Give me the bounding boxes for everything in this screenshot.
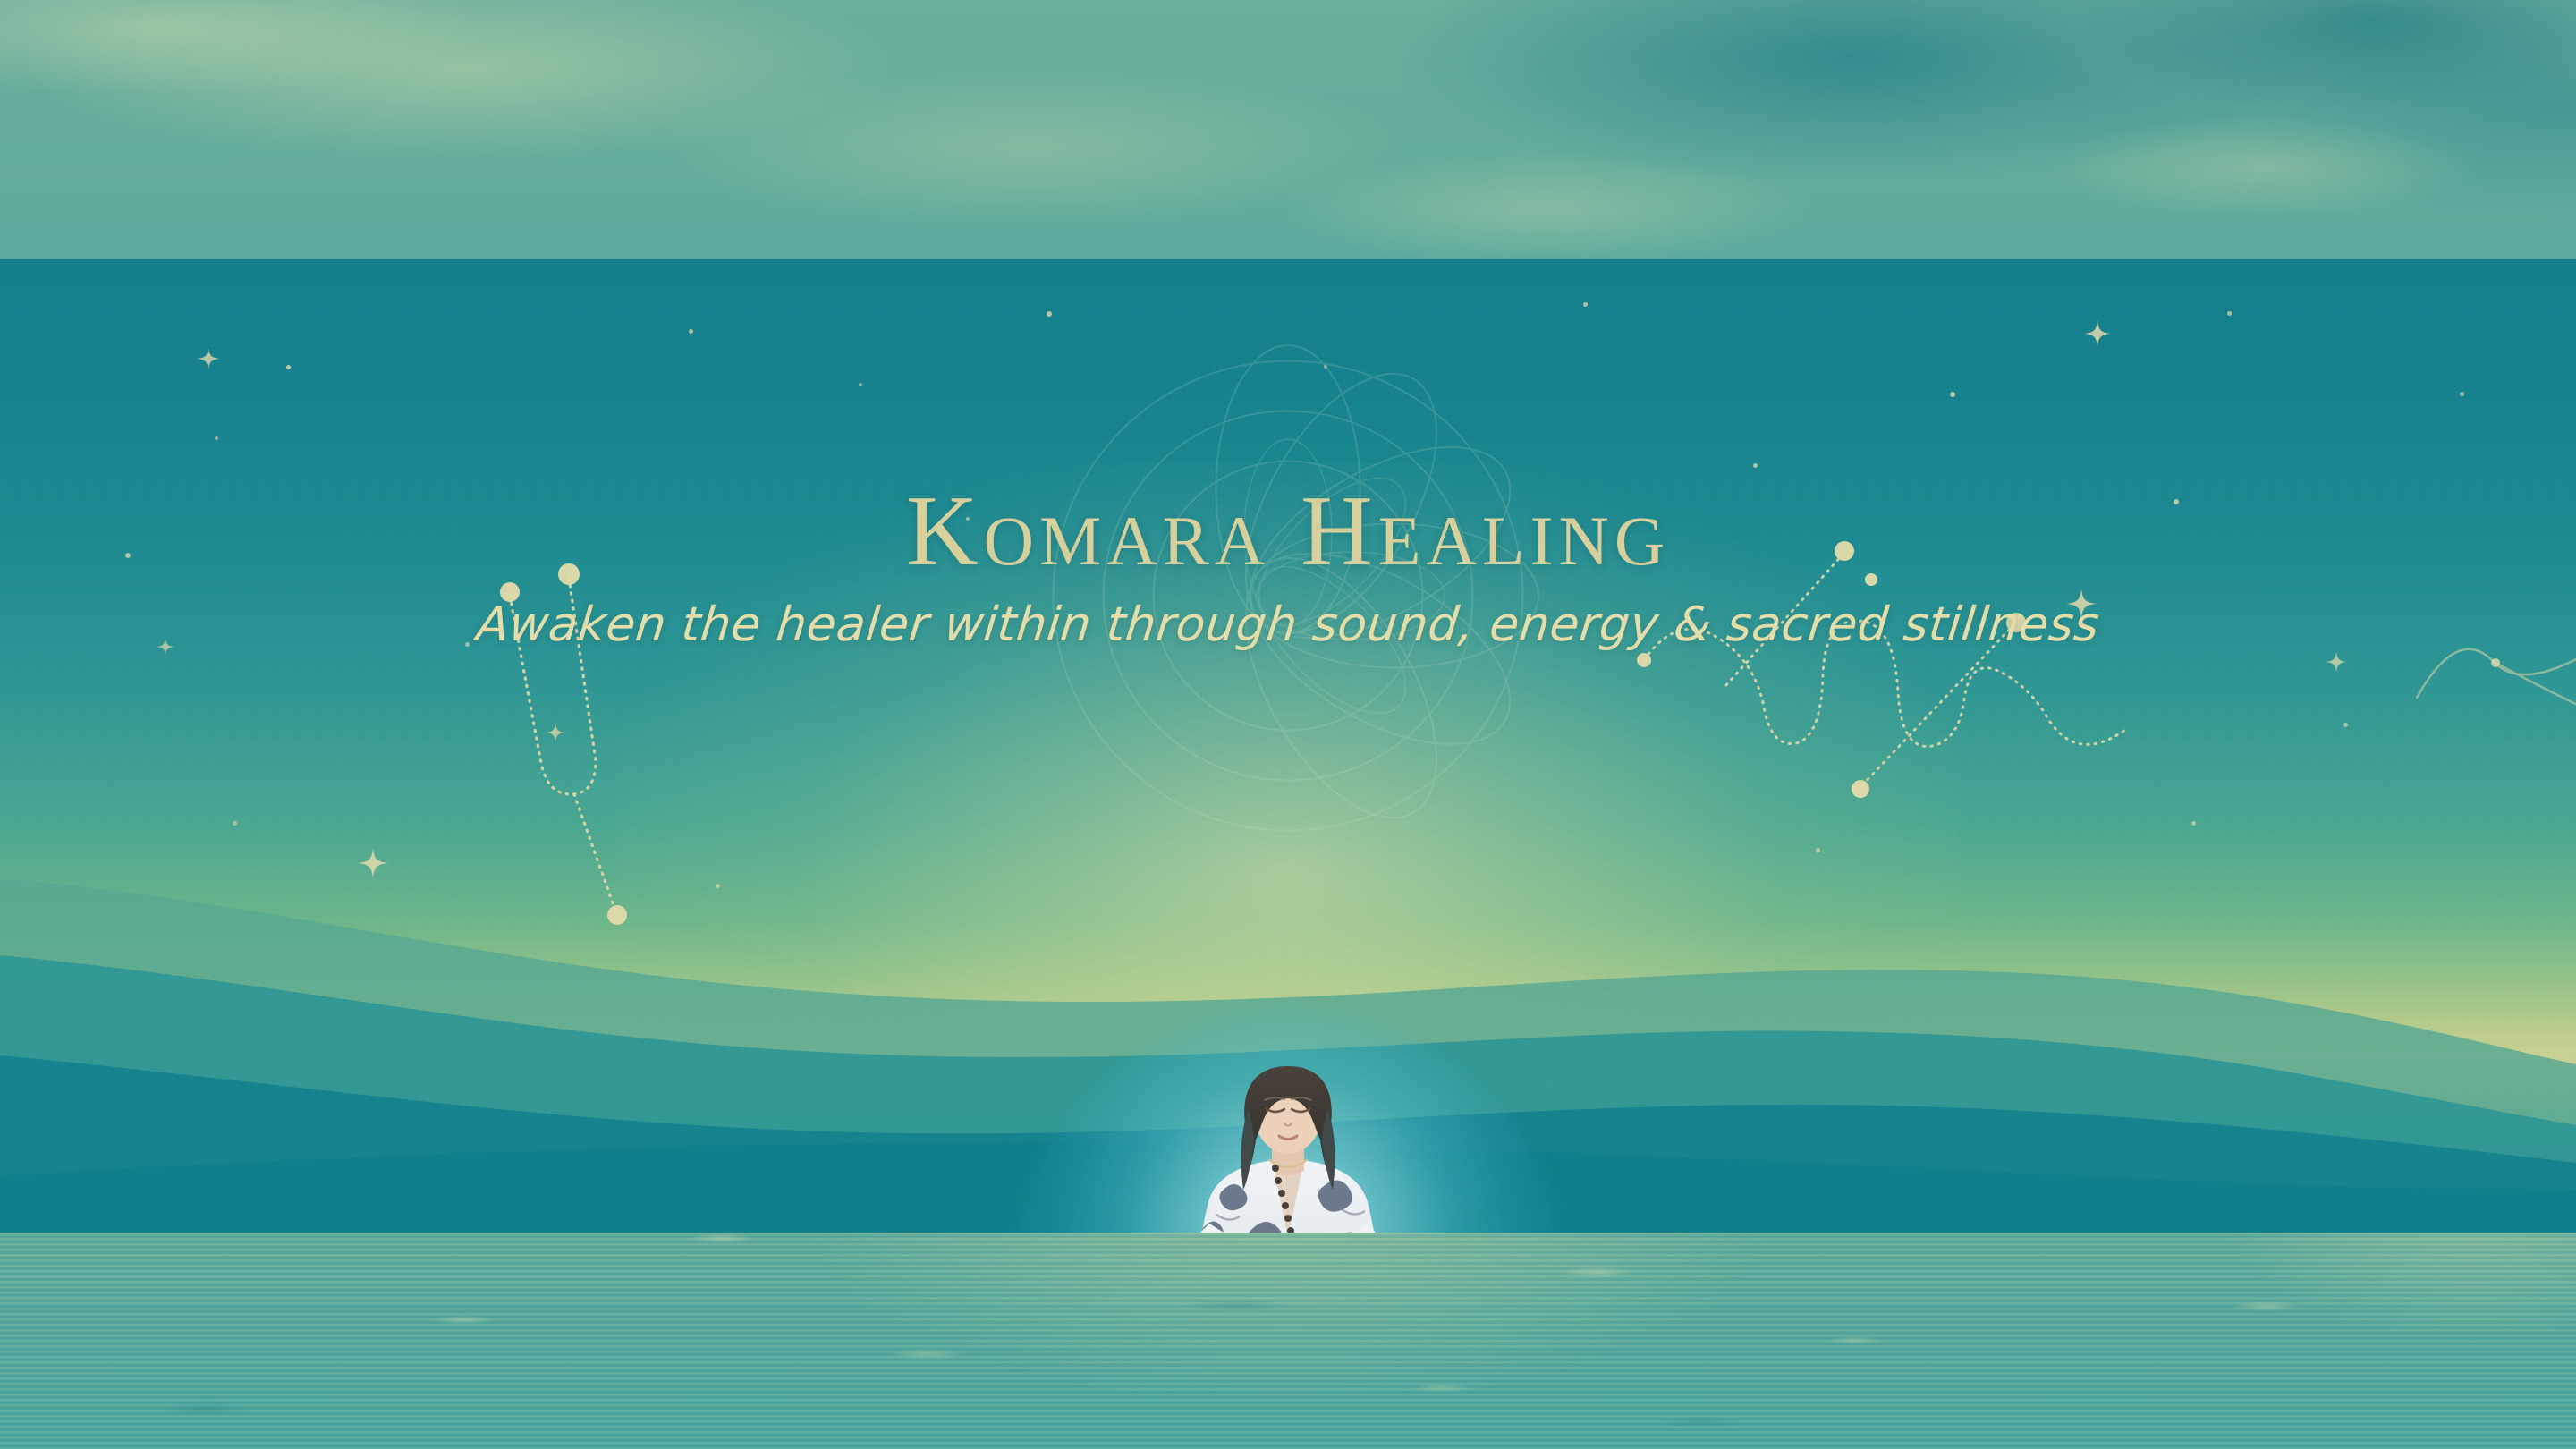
- banner-top-seam: [0, 258, 2576, 259]
- page-title: Komara Healing: [0, 258, 2576, 581]
- star-dust: [2173, 499, 2179, 504]
- star-dust: [465, 642, 470, 647]
- sparkle-star-icon: [157, 638, 174, 656]
- sparkle-star-icon: [197, 347, 220, 370]
- star-dust: [2227, 311, 2232, 316]
- sparkle-star-icon: [2326, 651, 2347, 673]
- star-dust: [1324, 365, 1327, 369]
- right-swirl-constellation-icon: [2415, 597, 2576, 741]
- star-dust: [286, 365, 291, 369]
- cloudy-sky-photo: [0, 0, 2576, 268]
- banner-stage: Komara Healing Awaken the healer within …: [0, 0, 2576, 1449]
- sparkle-star-icon: [2066, 589, 2097, 619]
- star-dust: [1753, 463, 1758, 468]
- star-dust: [2343, 723, 2348, 727]
- lotus-pose-illustration: [1073, 1054, 1503, 1233]
- star-dust: [859, 383, 862, 386]
- star-dust: [689, 329, 693, 334]
- tagline: Awaken the healer within through sound, …: [0, 601, 2576, 648]
- star-dust: [966, 517, 970, 521]
- flower-of-life-mandala-icon: [948, 283, 1628, 909]
- sparkle-star-icon: [2084, 320, 2111, 347]
- star-dust: [215, 436, 218, 440]
- hero-banner: Komara Healing Awaken the healer within …: [0, 258, 2576, 1233]
- meditating-woman-figure: [1073, 1054, 1503, 1233]
- star-dust: [2460, 392, 2464, 396]
- star-dust: [1950, 392, 1955, 397]
- star-dust: [1583, 302, 1588, 307]
- star-dust: [125, 553, 131, 558]
- sparkle-star-icon: [546, 723, 565, 742]
- headline-block: Komara Healing Awaken the healer within …: [0, 258, 2576, 648]
- star-dust: [1046, 311, 1052, 317]
- sound-wave-constellation-icon: [1637, 526, 2173, 821]
